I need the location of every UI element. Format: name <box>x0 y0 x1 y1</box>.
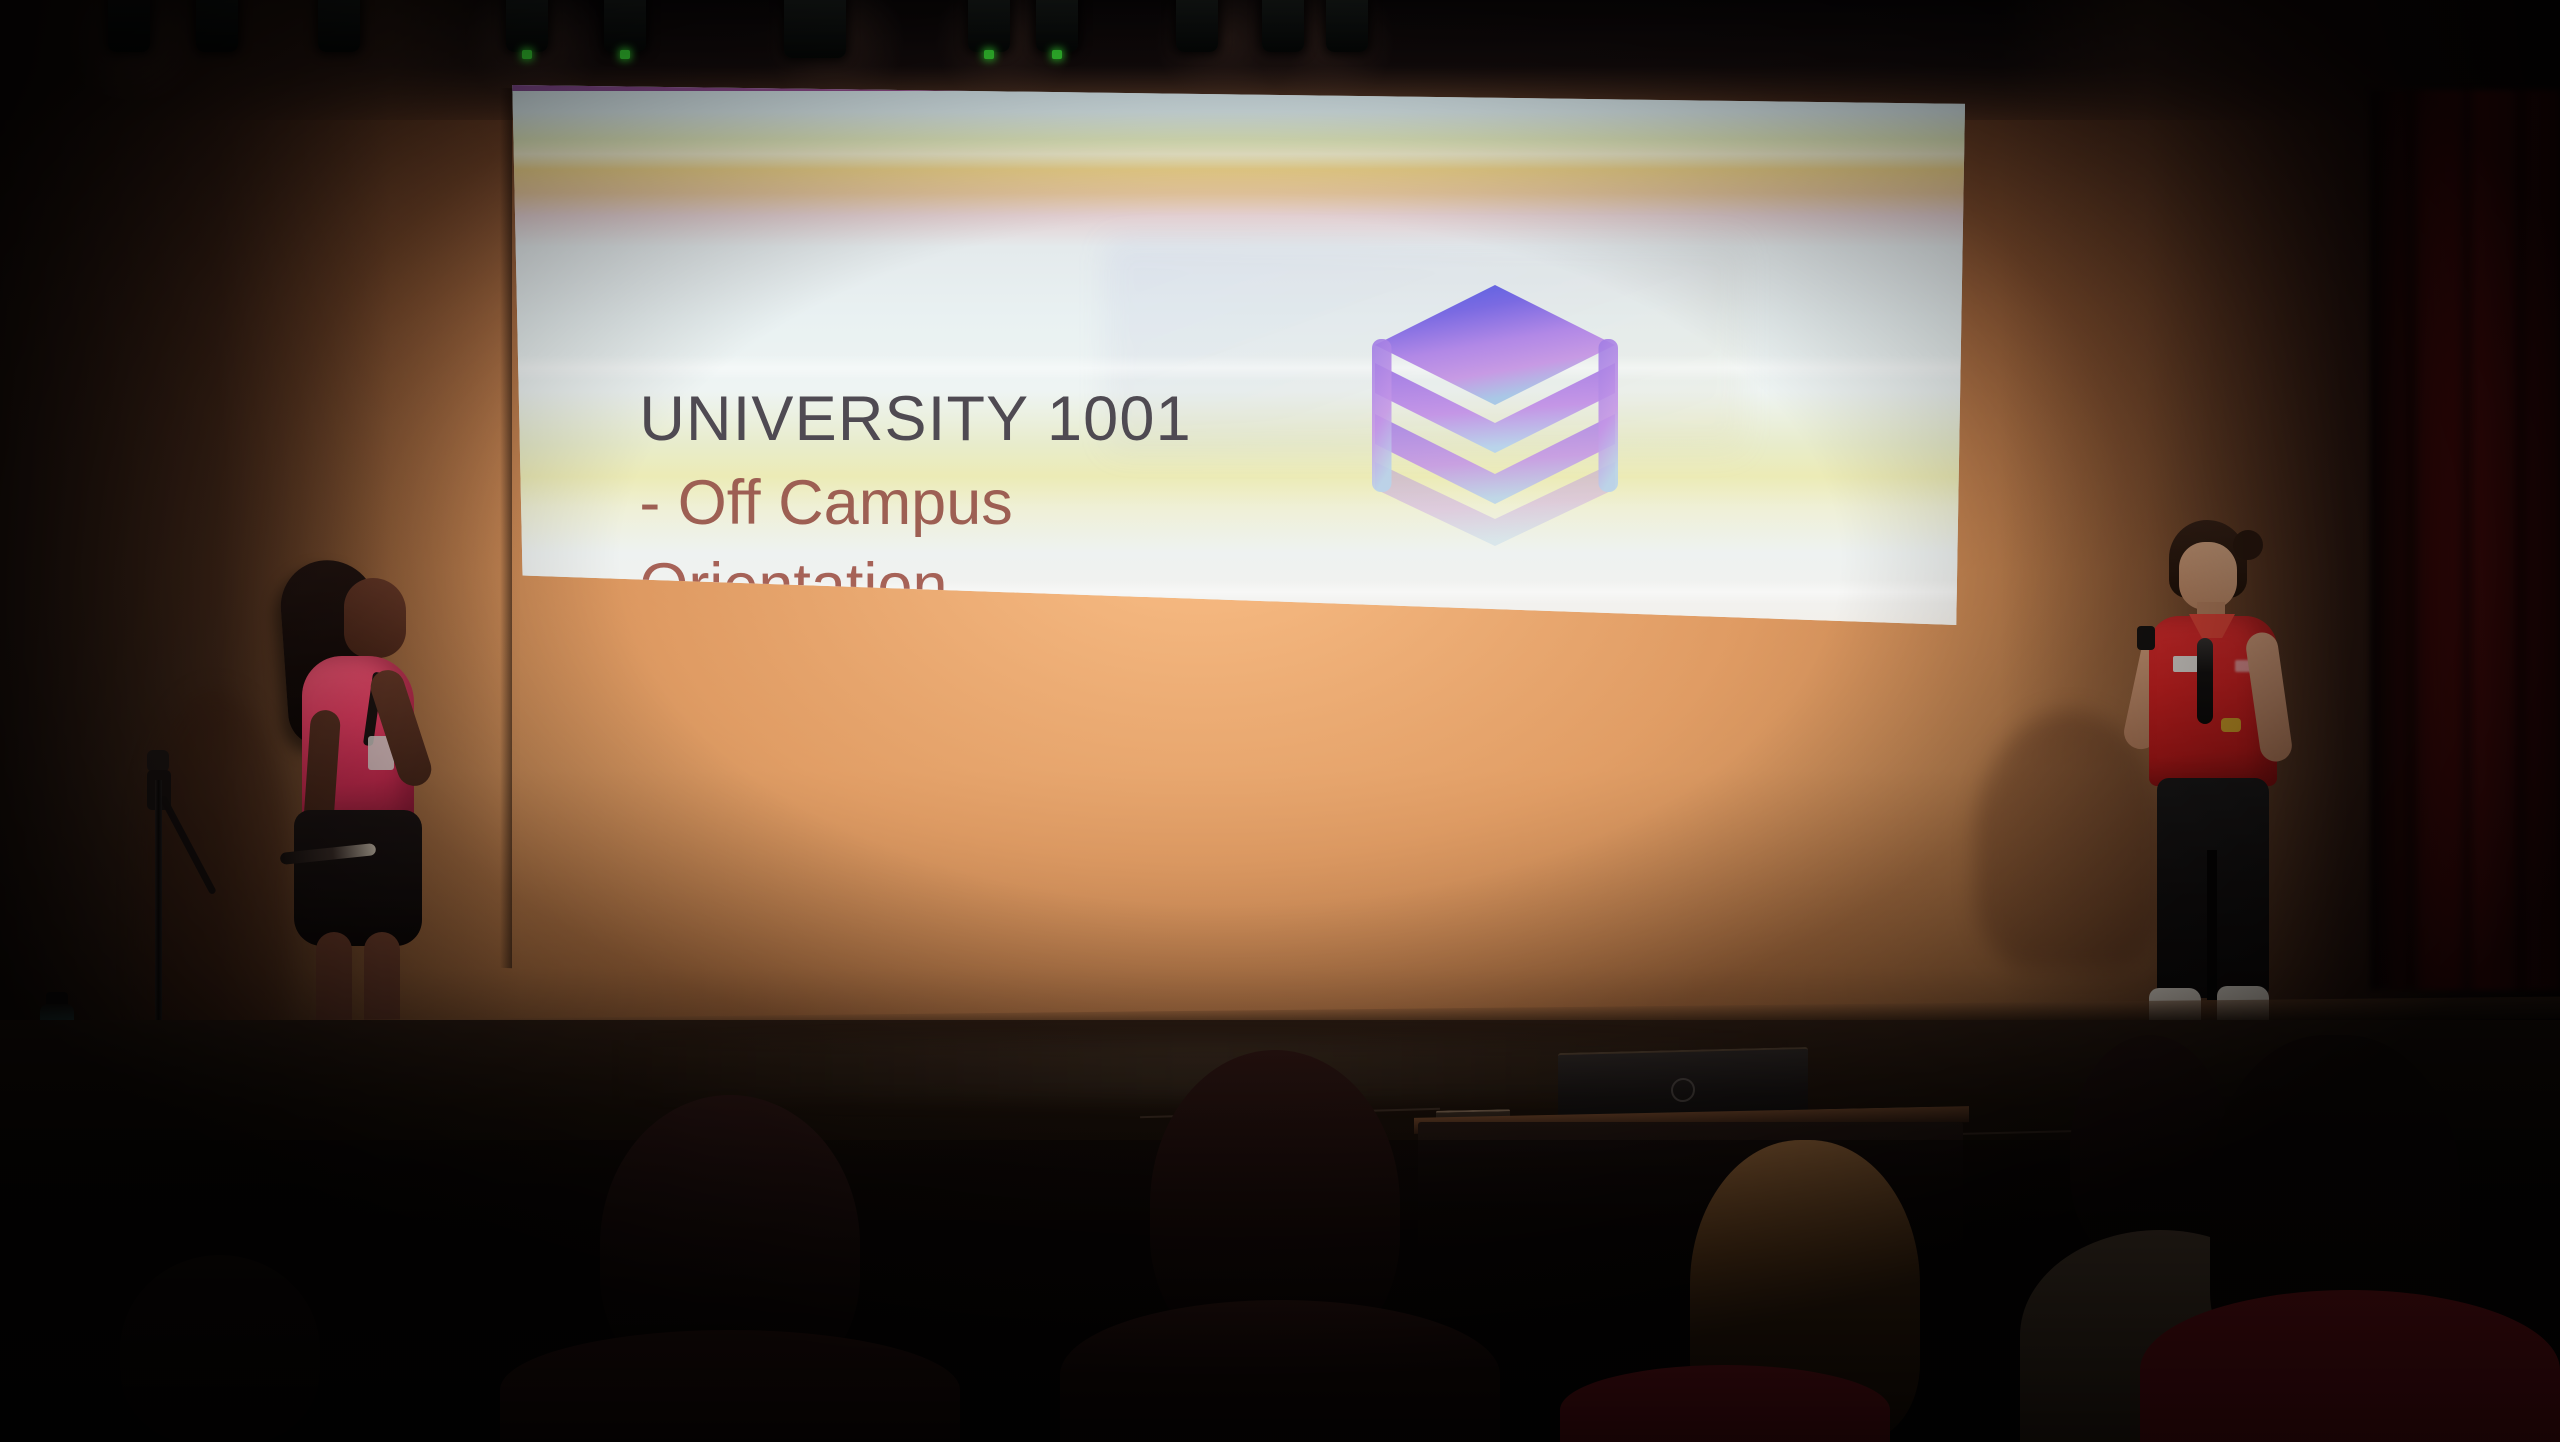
audience-shoulders <box>500 1330 960 1442</box>
slide-title: UNIVERSITY 1001 <box>639 382 1398 456</box>
audience-shoulders <box>1060 1300 1500 1442</box>
dell-circle-logo <box>1671 1078 1695 1103</box>
stage-light <box>1326 0 1368 52</box>
wrist-watch <box>2221 718 2241 732</box>
black-skirt <box>294 810 422 946</box>
ceiling-light-rig <box>0 0 2560 110</box>
stage-light <box>1262 0 1304 52</box>
face <box>2179 542 2237 610</box>
stage-light <box>604 0 646 52</box>
screen-left-frame <box>500 88 512 968</box>
stage-light <box>506 0 548 52</box>
pant-leg-gap <box>2207 850 2217 1000</box>
stage-light <box>108 0 150 52</box>
stage-light <box>1036 0 1078 52</box>
auditorium-presentation-photo: UNIVERSITY 1001 - Off Campus Orientation <box>0 0 2560 1442</box>
stage-light <box>196 0 238 52</box>
presentation-clicker <box>2137 626 2155 650</box>
hair-bun <box>2233 530 2263 560</box>
stage-curtain <box>2370 90 2560 990</box>
stage-light <box>968 0 1010 52</box>
stage-light <box>784 0 846 58</box>
stage-light <box>1176 0 1218 52</box>
audience-head <box>120 1255 320 1442</box>
mic-clip-head <box>147 750 169 772</box>
audience-shoulders-red <box>2140 1290 2560 1442</box>
boom-arm <box>159 795 217 895</box>
face <box>344 578 406 658</box>
stage-light <box>318 0 360 52</box>
slide-subtitle-1: - Off Campus <box>639 466 1398 540</box>
presenter-right <box>2135 520 2295 1040</box>
microphone <box>2197 638 2213 724</box>
